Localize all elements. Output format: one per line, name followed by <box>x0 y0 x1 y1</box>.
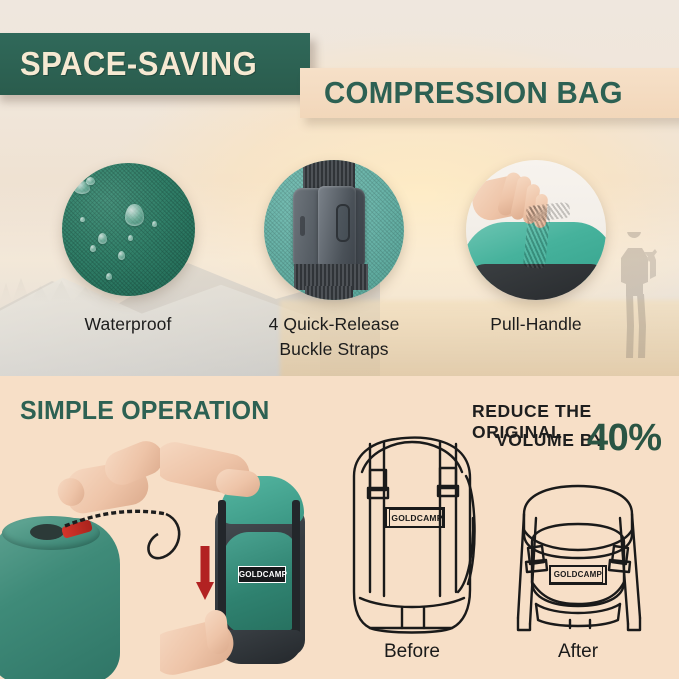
feature-circle-waterproof <box>62 163 195 296</box>
feature-caption-pull-handle: Pull-Handle <box>466 312 606 337</box>
water-droplet <box>152 221 157 227</box>
water-droplet <box>86 177 95 185</box>
before-bag-drawing <box>340 432 486 640</box>
before-logo-text: GOLDCAMP <box>391 513 442 523</box>
water-droplet <box>128 235 133 241</box>
water-droplet <box>80 217 85 222</box>
water-droplet <box>98 233 107 244</box>
bag-logo-text: GOLDCAMP <box>239 570 287 579</box>
water-droplet <box>118 251 125 260</box>
bag-base <box>468 264 606 300</box>
leaf-swoosh-icon <box>551 571 552 578</box>
hiker-silhouette-icon <box>604 232 662 362</box>
bag-logo-badge: GOLDCAMP <box>238 566 286 583</box>
infographic-page: SPACE-SAVING COMPRESSION BAG <box>0 0 679 679</box>
caption-line: Waterproof <box>58 312 198 337</box>
operation-step-2-photo: GOLDCAMP <box>160 440 340 679</box>
buckle-side-groove <box>300 216 305 236</box>
water-droplet <box>106 273 112 280</box>
header-title-right: COMPRESSION BAG <box>324 75 623 111</box>
header-title-left: SPACE-SAVING <box>20 45 257 83</box>
volume-claim-percent: 40% <box>587 417 662 460</box>
buckle-release-slot <box>336 204 350 242</box>
compression-strap-right <box>292 500 300 646</box>
simple-operation-heading: SIMPLE OPERATION <box>20 395 269 426</box>
upper-fingers <box>215 468 261 498</box>
caption-line: Buckle Straps <box>254 337 414 362</box>
caption-line: Pull-Handle <box>466 312 606 337</box>
downward-arrow-icon <box>194 546 216 604</box>
feature-caption-buckle: 4 Quick-Release Buckle Straps <box>254 312 414 362</box>
sack-opening <box>30 524 64 540</box>
banner-space-saving: SPACE-SAVING <box>0 33 310 95</box>
feature-circle-buckle <box>264 160 404 300</box>
before-logo-badge: GOLDCAMP <box>389 509 443 527</box>
pull-handle-loop <box>525 202 570 223</box>
stuff-sack-green-panel <box>223 532 297 634</box>
after-logo-badge: GOLDCAMP <box>550 566 603 583</box>
after-label: After <box>518 641 638 663</box>
webbing-strap-tail <box>305 286 353 300</box>
caption-line: 4 Quick-Release <box>254 312 414 337</box>
after-logo-text: GOLDCAMP <box>554 570 602 579</box>
banner-compression-bag: COMPRESSION BAG <box>300 68 679 118</box>
water-droplet <box>90 245 96 252</box>
feature-circle-pull-handle <box>466 160 606 300</box>
before-label: Before <box>352 641 472 663</box>
after-bag-drawing <box>498 478 658 640</box>
feature-caption-waterproof: Waterproof <box>58 312 198 337</box>
top-feature-section: SPACE-SAVING COMPRESSION BAG <box>0 0 679 376</box>
water-droplet <box>125 204 144 226</box>
